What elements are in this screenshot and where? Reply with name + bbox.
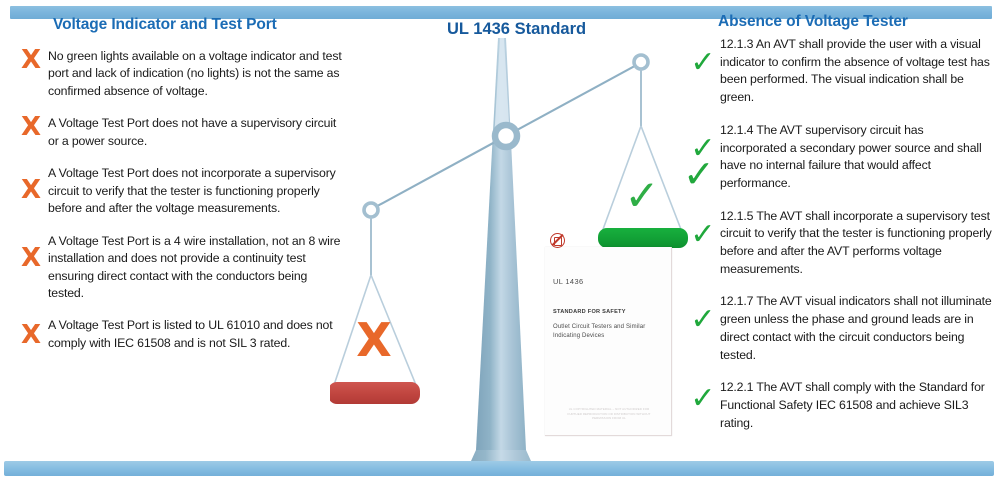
check-icon: ✓ <box>686 384 720 414</box>
ul-document-number: UL 1436 <box>553 277 583 286</box>
left-pan-x-icon: X <box>356 313 391 367</box>
right-bullet-column: ✓ 12.1.3 An AVT shall provide the user w… <box>686 36 992 447</box>
list-item-text: A Voltage Test Port is listed to UL 6101… <box>48 317 344 352</box>
bottom-accent-bar <box>4 461 994 476</box>
x-icon: X <box>14 114 48 140</box>
list-item: X No green lights available on a voltage… <box>14 48 344 100</box>
ul-standard-label: STANDARD FOR SAFETY <box>553 309 626 315</box>
right-hanger-ring <box>634 55 648 69</box>
list-item-text: 12.1.5 The AVT shall incorporate a super… <box>720 208 992 279</box>
x-icon: X <box>14 322 48 348</box>
check-icon: ✓ <box>686 305 720 335</box>
check-icon: ✓ <box>686 220 720 250</box>
list-item-text: A Voltage Test Port does not have a supe… <box>48 115 344 150</box>
scale-beam <box>370 62 642 210</box>
page-title-center: UL 1436 Standard <box>447 20 586 39</box>
list-item: X A Voltage Test Port is listed to UL 61… <box>14 317 344 352</box>
list-item: ✓ 12.1.5 The AVT shall incorporate a sup… <box>686 208 992 279</box>
page-title-right: Absence of Voltage Tester <box>718 13 908 31</box>
list-item: X A Voltage Test Port is a 4 wire instal… <box>14 233 344 303</box>
x-icon: X <box>14 177 48 203</box>
list-item-text: 12.1.4 The AVT supervisory circuit has i… <box>720 122 992 193</box>
list-item-text: 12.1.3 An AVT shall provide the user wit… <box>720 36 992 107</box>
check-icon: ✓ <box>686 48 720 78</box>
left-pan-red <box>330 382 420 404</box>
scale-pivot <box>495 125 517 147</box>
list-item-text: No green lights available on a voltage i… <box>48 48 344 100</box>
right-pan-green <box>598 228 688 248</box>
list-item-text: 12.1.7 The AVT visual indicators shall n… <box>720 293 992 364</box>
list-item: ✓ 12.1.3 An AVT shall provide the user w… <box>686 36 992 107</box>
slide-canvas: Voltage Indicator and Test Port UL 1436 … <box>0 0 1000 483</box>
list-item: X A Voltage Test Port does not incorpora… <box>14 165 344 217</box>
no-copy-icon <box>550 233 565 248</box>
x-icon: X <box>14 245 48 271</box>
list-item: X A Voltage Test Port does not have a su… <box>14 115 344 150</box>
list-item: ✓ 12.1.4 The AVT supervisory circuit has… <box>686 122 992 193</box>
list-item: ✓ 12.2.1 The AVT shall comply with the S… <box>686 379 992 432</box>
right-pan-check-icon: ✓ <box>624 171 659 220</box>
ul-document-subtitle: Outlet Circuit Testers and Similar Indic… <box>553 323 661 341</box>
list-item-text: 12.2.1 The AVT shall comply with the Sta… <box>720 379 992 432</box>
ul-document-fineprint: UL COPYRIGHTED MATERIAL – NOT AUTHORIZED… <box>563 407 655 421</box>
page-title-left: Voltage Indicator and Test Port <box>53 16 277 34</box>
x-icon: X <box>14 47 48 73</box>
left-hanger-ring <box>364 203 378 217</box>
list-item-text: A Voltage Test Port is a 4 wire installa… <box>48 233 344 303</box>
left-bullet-column: X No green lights available on a voltage… <box>14 48 344 367</box>
list-item: ✓ 12.1.7 The AVT visual indicators shall… <box>686 293 992 364</box>
scale-column <box>476 38 526 450</box>
check-icon: ✓ <box>686 134 720 164</box>
ul-standard-document: UL 1436 STANDARD FOR SAFETY Outlet Circu… <box>545 247 672 436</box>
list-item-text: A Voltage Test Port does not incorporate… <box>48 165 344 217</box>
